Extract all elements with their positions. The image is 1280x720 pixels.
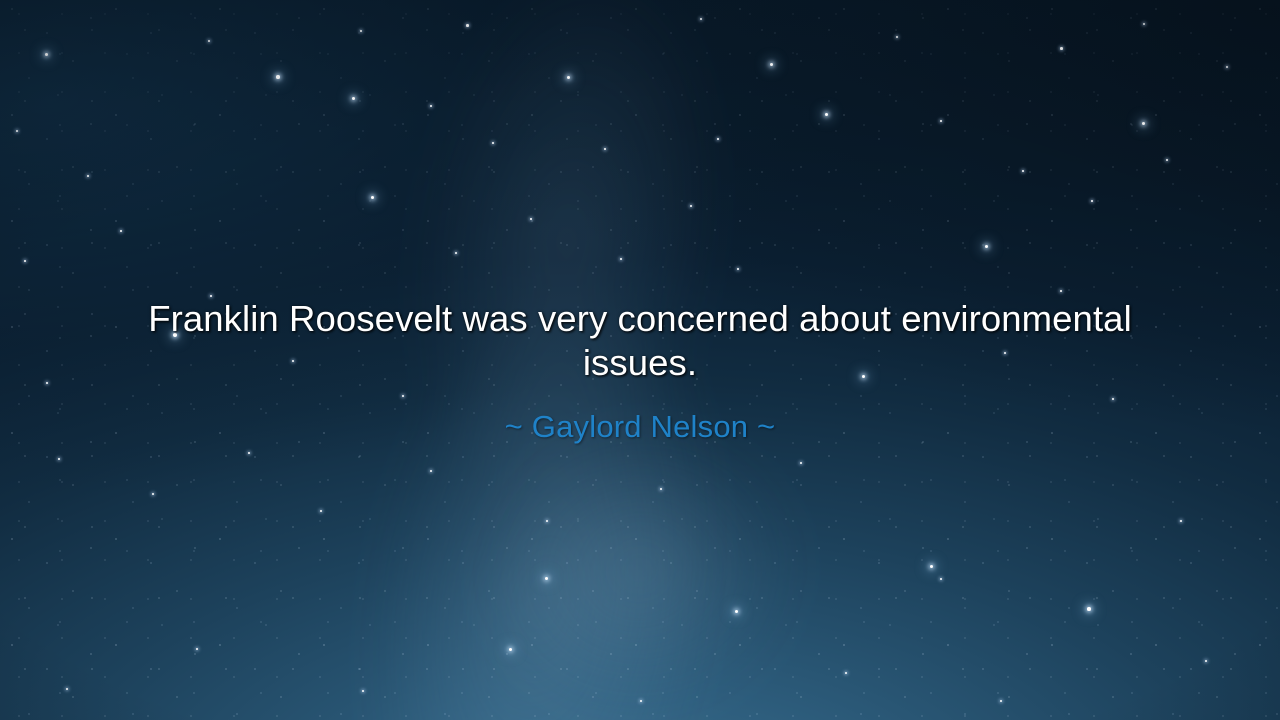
quote-attribution: ~ Gaylord Nelson ~ <box>90 407 1190 447</box>
quote-slide: Franklin Roosevelt was very concerned ab… <box>0 0 1280 720</box>
quote-text-block: Franklin Roosevelt was very concerned ab… <box>0 0 1280 720</box>
quote-text: Franklin Roosevelt was very concerned ab… <box>90 297 1190 385</box>
